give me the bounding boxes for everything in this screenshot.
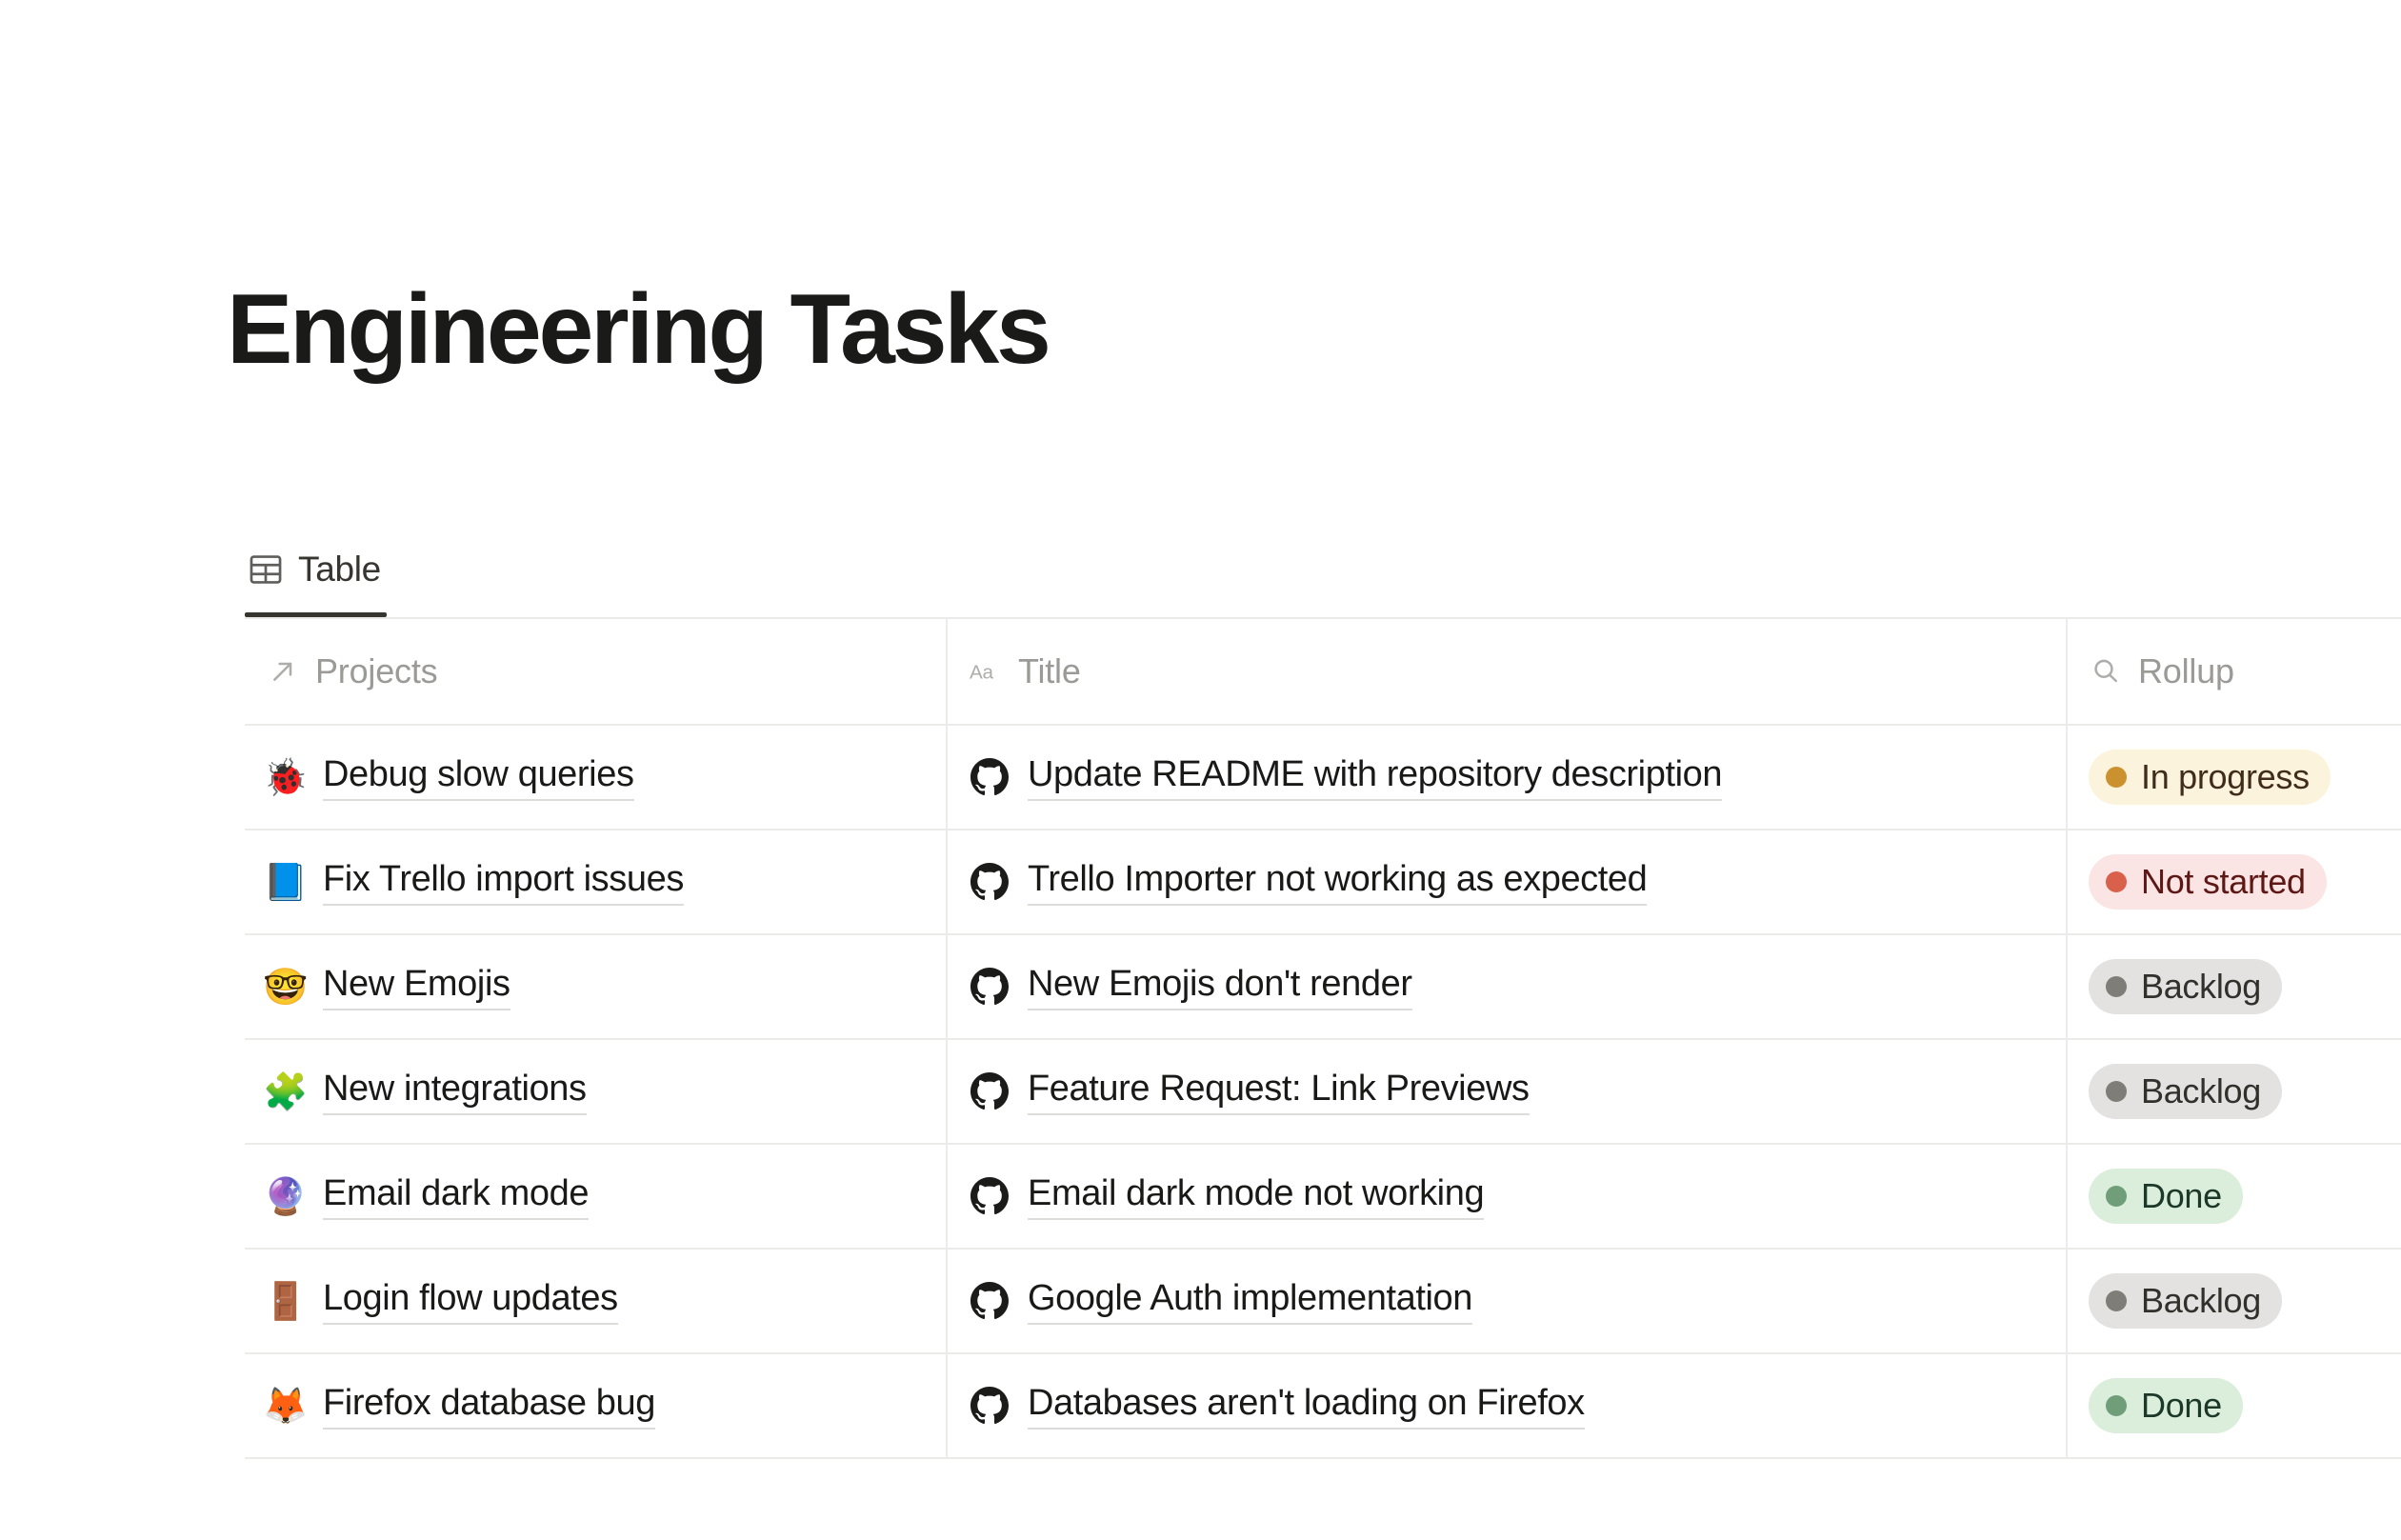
table-row[interactable]: 📘 Fix Trello import issues Trello Import… — [245, 830, 2401, 935]
cell-projects[interactable]: 🔮 Email dark mode — [245, 1145, 948, 1248]
issue-title-link[interactable]: Google Auth implementation — [1028, 1278, 1472, 1325]
status-badge[interactable]: Done — [2089, 1378, 2243, 1433]
issue-title-link[interactable]: Trello Importer not working as expected — [1028, 859, 1647, 906]
status-dot-icon — [2106, 1290, 2127, 1311]
status-dot-icon — [2106, 976, 2127, 997]
door-emoji: 🚪 — [266, 1283, 306, 1319]
cell-title[interactable]: New Emojis don't render — [948, 935, 2068, 1038]
project-link[interactable]: Login flow updates — [323, 1278, 618, 1325]
column-header-title-label: Title — [1018, 651, 1081, 691]
column-header-projects-label: Projects — [315, 651, 437, 691]
table-row[interactable]: 🤓 New Emojis New Emojis don't render Bac… — [245, 935, 2401, 1040]
rollup-search-icon — [2089, 654, 2123, 689]
status-dot-icon — [2106, 1395, 2127, 1416]
column-header-title[interactable]: Aa Title — [948, 619, 2068, 724]
cell-projects[interactable]: 🧩 New integrations — [245, 1040, 948, 1143]
relation-arrow-icon — [266, 654, 300, 689]
table-row[interactable]: 🦊 Firefox database bug Databases aren't … — [245, 1354, 2401, 1459]
notion-database-page: Engineering Tasks Table — [0, 0, 2401, 1540]
status-badge-label: Backlog — [2141, 1071, 2261, 1111]
cell-rollup[interactable]: Backlog — [2068, 935, 2401, 1038]
status-dot-icon — [2106, 871, 2127, 892]
issue-title-link[interactable]: Email dark mode not working — [1028, 1173, 1484, 1220]
status-badge-label: Done — [2141, 1176, 2222, 1216]
puzzle-piece-emoji: 🧩 — [266, 1073, 306, 1110]
table-body: 🐞 Debug slow queries Update README with … — [245, 726, 2401, 1459]
issue-title-link[interactable]: Feature Request: Link Previews — [1028, 1069, 1530, 1115]
fox-emoji: 🦊 — [266, 1388, 306, 1424]
issue-title-link[interactable]: New Emojis don't render — [1028, 964, 1412, 1010]
cell-title[interactable]: Google Auth implementation — [948, 1250, 2068, 1352]
cell-title[interactable]: Feature Request: Link Previews — [948, 1040, 2068, 1143]
lady-beetle-emoji: 🐞 — [266, 759, 306, 795]
project-link[interactable]: Email dark mode — [323, 1173, 589, 1220]
tab-table[interactable]: Table — [245, 522, 387, 617]
table-row[interactable]: 🔮 Email dark mode Email dark mode not wo… — [245, 1145, 2401, 1250]
column-header-projects[interactable]: Projects — [245, 619, 948, 724]
nerd-face-emoji: 🤓 — [266, 969, 306, 1005]
status-dot-icon — [2106, 767, 2127, 788]
status-badge-label: Not started — [2141, 862, 2306, 902]
cell-projects[interactable]: 🚪 Login flow updates — [245, 1250, 948, 1352]
table-row[interactable]: 🐞 Debug slow queries Update README with … — [245, 726, 2401, 830]
view-tab-bar: Table — [245, 514, 387, 617]
status-badge[interactable]: Done — [2089, 1169, 2243, 1224]
status-badge-label: Done — [2141, 1386, 2222, 1426]
cell-rollup[interactable]: Backlog — [2068, 1040, 2401, 1143]
status-badge[interactable]: Backlog — [2089, 1064, 2282, 1119]
cell-rollup[interactable]: Backlog — [2068, 1250, 2401, 1352]
table-icon — [247, 550, 285, 589]
cell-title[interactable]: Email dark mode not working — [948, 1145, 2068, 1248]
status-badge[interactable]: In progress — [2089, 750, 2331, 805]
issue-title-link[interactable]: Update README with repository descriptio… — [1028, 754, 1722, 801]
cell-title[interactable]: Trello Importer not working as expected — [948, 830, 2068, 933]
github-icon — [969, 756, 1010, 798]
issue-title-link[interactable]: Databases aren't loading on Firefox — [1028, 1383, 1585, 1430]
status-badge-label: Backlog — [2141, 967, 2261, 1007]
project-link[interactable]: Fix Trello import issues — [323, 859, 684, 906]
github-icon — [969, 1175, 1010, 1217]
status-badge-label: Backlog — [2141, 1281, 2261, 1321]
project-link[interactable]: New Emojis — [323, 964, 510, 1010]
column-header-rollup[interactable]: Rollup — [2068, 619, 2401, 724]
table-row[interactable]: 🧩 New integrations Feature Request: Link… — [245, 1040, 2401, 1145]
github-icon — [969, 1070, 1010, 1112]
crystal-ball-emoji: 🔮 — [266, 1178, 306, 1214]
cell-rollup[interactable]: In progress — [2068, 726, 2401, 829]
cell-rollup[interactable]: Done — [2068, 1354, 2401, 1457]
table-row[interactable]: 🚪 Login flow updates Google Auth impleme… — [245, 1250, 2401, 1354]
svg-text:Aa: Aa — [970, 661, 994, 683]
status-badge-label: In progress — [2141, 757, 2310, 797]
cell-projects[interactable]: 🦊 Firefox database bug — [245, 1354, 948, 1457]
table-header-row: Projects Aa Title Rollup — [245, 619, 2401, 726]
cell-rollup[interactable]: Not started — [2068, 830, 2401, 933]
status-dot-icon — [2106, 1186, 2127, 1207]
cell-title[interactable]: Databases aren't loading on Firefox — [948, 1354, 2068, 1457]
page-title: Engineering Tasks — [227, 274, 1049, 385]
status-badge[interactable]: Backlog — [2089, 1273, 2282, 1329]
cell-title[interactable]: Update README with repository descriptio… — [948, 726, 2068, 829]
status-badge[interactable]: Backlog — [2089, 959, 2282, 1014]
project-link[interactable]: Debug slow queries — [323, 754, 634, 801]
cell-projects[interactable]: 🤓 New Emojis — [245, 935, 948, 1038]
database-table: Projects Aa Title Rollup — [245, 617, 2401, 1459]
title-aa-icon: Aa — [969, 654, 1003, 689]
cell-rollup[interactable]: Done — [2068, 1145, 2401, 1248]
tab-table-label: Table — [298, 550, 381, 590]
project-link[interactable]: New integrations — [323, 1069, 587, 1115]
status-badge[interactable]: Not started — [2089, 854, 2327, 910]
blue-book-emoji: 📘 — [266, 864, 306, 900]
cell-projects[interactable]: 📘 Fix Trello import issues — [245, 830, 948, 933]
column-header-rollup-label: Rollup — [2138, 651, 2234, 691]
github-icon — [969, 1280, 1010, 1322]
github-icon — [969, 1385, 1010, 1427]
project-link[interactable]: Firefox database bug — [323, 1383, 655, 1430]
status-dot-icon — [2106, 1081, 2127, 1102]
github-icon — [969, 966, 1010, 1008]
cell-projects[interactable]: 🐞 Debug slow queries — [245, 726, 948, 829]
github-icon — [969, 861, 1010, 903]
